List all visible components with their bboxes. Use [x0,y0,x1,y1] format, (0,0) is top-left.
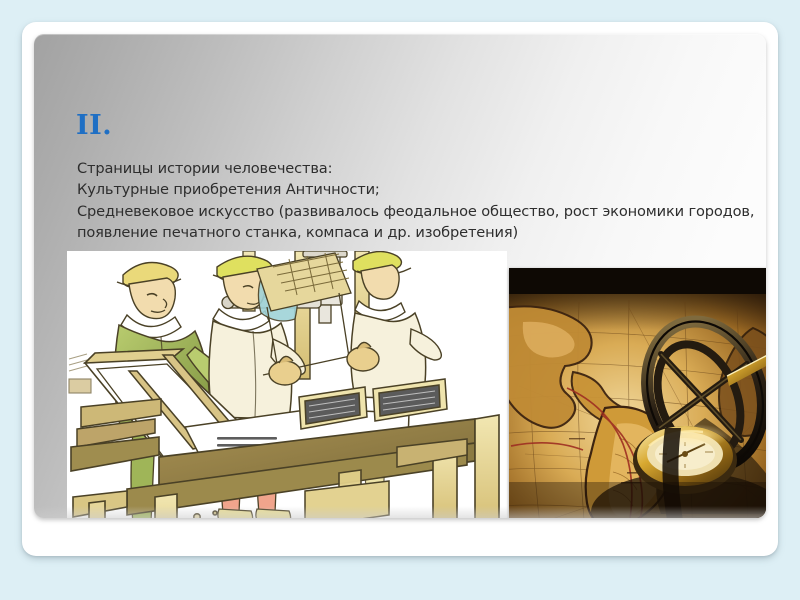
slide-card: II. Страницы истории человечества: Культ… [22,22,778,556]
media-row [34,34,766,518]
compass-photo-svg [509,268,766,518]
compass-map-image [509,268,766,518]
printing-press-illustration-svg [67,251,507,518]
slide-content-panel: II. Страницы истории человечества: Культ… [34,34,766,518]
printing-press-image [67,251,507,518]
